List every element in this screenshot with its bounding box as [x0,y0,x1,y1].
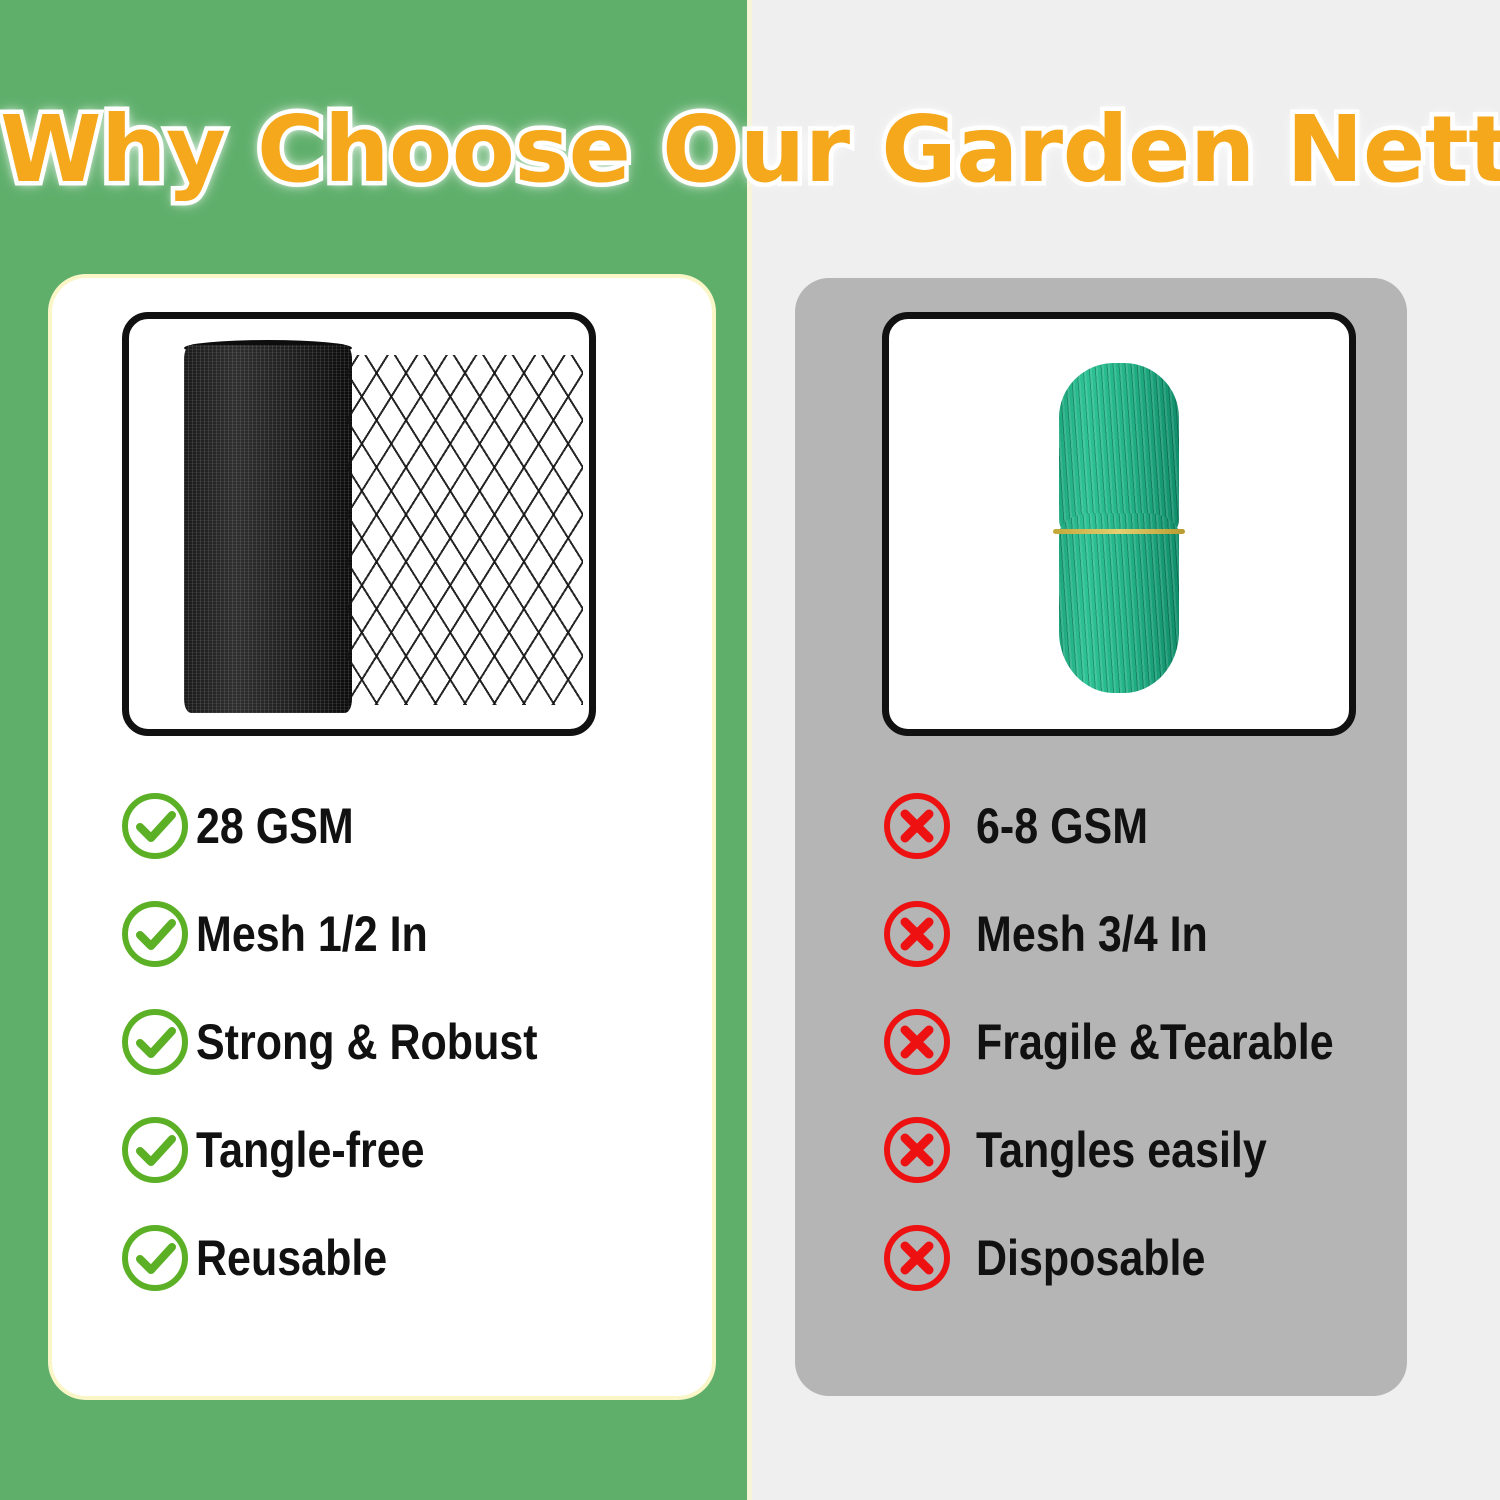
list-item: 6-8 GSM [880,772,1400,880]
list-item: 28 GSM [118,772,698,880]
cross-circle-icon [880,1221,954,1295]
diamond-mesh-fabric [347,355,583,705]
feature-label: Tangles easily [976,1125,1267,1175]
check-circle-icon [118,789,192,863]
page-title: Why Choose Our Garden Netting? [0,96,1500,203]
list-item: Mesh 3/4 In [880,880,1400,988]
feature-label: 28 GSM [196,801,354,851]
check-circle-icon [118,897,192,971]
feature-label: Tangle-free [196,1125,425,1175]
left-feature-list: 28 GSM Mesh 1/2 In Strong & Robust [118,772,698,1312]
check-circle-icon [118,1005,192,1079]
bundle-tie-string [1053,529,1185,534]
check-circle-icon [118,1221,192,1295]
list-item: Mesh 1/2 In [118,880,698,988]
feature-label: Mesh 3/4 In [976,909,1208,959]
feature-label: Mesh 1/2 In [196,909,428,959]
feature-label: Reusable [196,1233,387,1283]
right-feature-list: 6-8 GSM Mesh 3/4 In Fragile &Tearable [880,772,1400,1312]
list-item: Fragile &Tearable [880,988,1400,1096]
cross-circle-icon [880,897,954,971]
list-item: Disposable [880,1204,1400,1312]
list-item: Tangles easily [880,1096,1400,1204]
feature-label: Disposable [976,1233,1205,1283]
feature-label: Fragile &Tearable [976,1017,1334,1067]
cross-circle-icon [880,1005,954,1079]
comparison-infographic: Why Choose Our Garden Netting? 28 GSM [0,0,1500,1500]
list-item: Tangle-free [118,1096,698,1204]
feature-label: Strong & Robust [196,1017,538,1067]
left-product-photo [122,312,596,736]
bundle-lower-lobe [1059,513,1179,693]
right-product-photo [882,312,1356,736]
feature-label: 6-8 GSM [976,801,1148,851]
check-circle-icon [118,1113,192,1187]
black-netting-roll [184,345,352,713]
cross-circle-icon [880,789,954,863]
list-item: Reusable [118,1204,698,1312]
list-item: Strong & Robust [118,988,698,1096]
cross-circle-icon [880,1113,954,1187]
panel-divider [747,0,752,1500]
green-netting-bundle [1059,363,1179,693]
